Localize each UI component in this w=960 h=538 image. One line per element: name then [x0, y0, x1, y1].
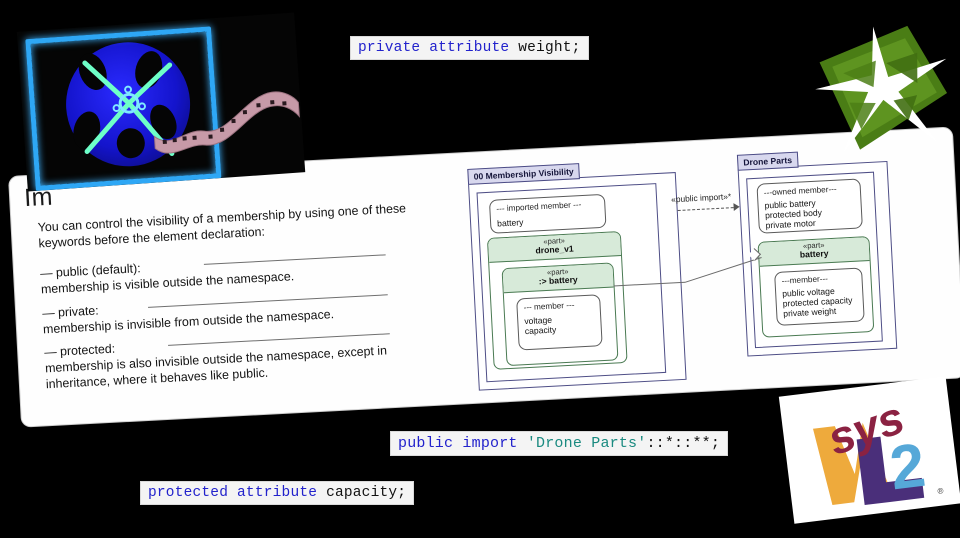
code-string: 'Drone Parts'	[527, 435, 647, 452]
divider	[168, 333, 390, 346]
film-strip-icon	[149, 82, 303, 154]
bullet-keyword-private: — private:	[42, 303, 99, 320]
arrowhead-import-icon	[733, 203, 739, 211]
note-member-left: --- member --- voltage capacity	[516, 294, 603, 350]
note-imported-member: --- imported member --- battery	[489, 194, 607, 234]
divider	[148, 294, 388, 308]
note-header: --- member ---	[523, 299, 593, 312]
code-snippet-protected-capacity: protected attribute capacity;	[140, 481, 414, 505]
part-header-battery-right: «part» battery	[759, 237, 870, 267]
divider	[204, 255, 386, 266]
code-element-keyword: attribute	[237, 485, 317, 501]
note-line: battery	[497, 213, 599, 228]
eclipse-green-logo	[803, 15, 960, 165]
part-header-drone-v1: «part» drone_v1	[488, 232, 621, 263]
slide-canvas: Im You can control the visibility of a m…	[0, 0, 960, 538]
note-owned-member: ---owned member--- public battery protec…	[756, 178, 862, 233]
code-element-keyword: attribute	[429, 40, 509, 56]
code-snippet-private-weight: private attribute weight;	[350, 36, 589, 60]
code-suffix: ::*::**;	[646, 435, 720, 452]
part-battery-right[interactable]: «part» battery ---member--- public volta…	[757, 236, 874, 338]
sysml-logo: sys 2 ®	[779, 376, 960, 524]
package-tab-drone-parts: Drone Parts	[737, 152, 798, 171]
registered-mark-icon: ®	[937, 486, 944, 496]
svg-text:2: 2	[886, 431, 929, 504]
code-keyword: protected	[148, 485, 228, 501]
note-header: --- imported member ---	[496, 199, 598, 213]
note-member-right: ---member--- public voltage protected ca…	[774, 267, 865, 326]
connector-public-import	[678, 207, 734, 211]
code-identifier: capacity;	[326, 485, 406, 501]
code-keyword: private	[358, 40, 420, 56]
part-header-battery-subset: «part» :> battery	[503, 263, 614, 293]
part-drone-v1[interactable]: «part» drone_v1 «part» :> battery --- me…	[487, 231, 628, 370]
slide-body-text: You can control the visibility of a memb…	[37, 199, 446, 400]
code-identifier: weight;	[518, 40, 580, 56]
bullet-keyword-protected: — protected:	[44, 341, 116, 359]
part-battery-subset[interactable]: «part» :> battery --- member --- voltage…	[501, 262, 618, 366]
uml-diagram: 00 Membership Visibility --- imported me…	[449, 134, 957, 398]
film-reel-icon	[17, 12, 305, 191]
code-snippet-public-import: public import 'Drone Parts'::*::**;	[390, 431, 728, 456]
note-header: ---owned member---	[764, 184, 854, 198]
code-keyword: public import	[398, 435, 518, 452]
note-header: ---member---	[781, 273, 855, 286]
connector-label-public-import: «public import»*	[671, 191, 732, 204]
sysml-two-glyph: 2	[886, 431, 929, 504]
